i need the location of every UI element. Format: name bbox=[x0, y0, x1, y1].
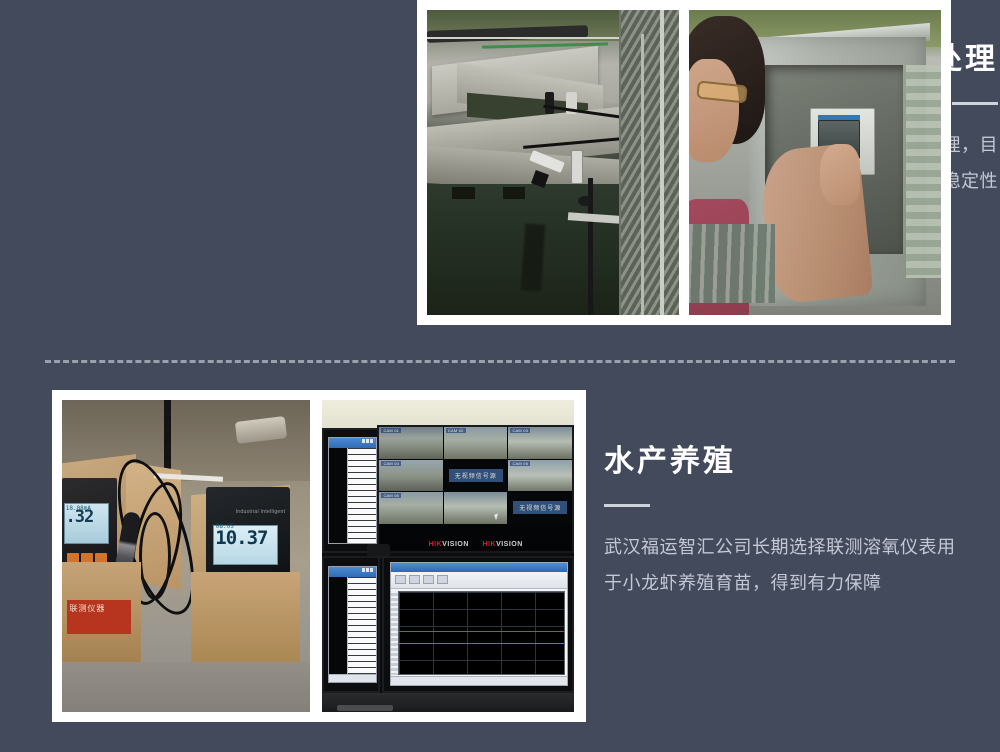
technician-cabinet-photo bbox=[689, 10, 941, 315]
technician-hand bbox=[820, 144, 860, 205]
water-reflection bbox=[520, 223, 545, 291]
app-titlebar bbox=[391, 563, 567, 572]
trend-line-blue bbox=[399, 643, 564, 644]
trend-chart-plot bbox=[398, 591, 565, 675]
cctv-cell-label: CAM 01 bbox=[381, 428, 401, 433]
wastewater-photo-frame bbox=[417, 0, 951, 325]
wall-background bbox=[322, 400, 574, 428]
plot-pane-bottom bbox=[329, 577, 348, 682]
cctv-cell: CAM 02 bbox=[444, 427, 508, 459]
window-titlebar-top bbox=[329, 438, 376, 447]
rail-vertical-2 bbox=[641, 34, 644, 315]
no-signal-text: 无视频信号源 bbox=[449, 469, 503, 482]
cctv-cell: CAM 06 bbox=[379, 492, 443, 524]
list-pane-bottom bbox=[348, 577, 376, 682]
cctv-grid: CAM 01 CAM 02 CAM 03 CAM 04 无视频信号源 bbox=[379, 427, 572, 524]
hikvision-logo: HIKVISION bbox=[429, 541, 469, 548]
dissolved-oxygen-sensor bbox=[571, 150, 583, 184]
nvr-brand-row: HIKVISION HIKVISION bbox=[422, 541, 530, 548]
list-pane-top bbox=[348, 448, 376, 543]
aquaculture-text-block: 水产养殖 武汉福运智汇公司长期选择联测溶氧仪表用于小龙虾养殖育苗，得到有力保障 bbox=[604, 444, 964, 601]
cctv-cell-label: CAM 02 bbox=[446, 428, 466, 433]
case-study-page: 污水处理 联测溶氧仪用于重庆环保十强企业污水处理，目前投入使用，监控水处理效果，… bbox=[0, 0, 1000, 752]
app-statusbar bbox=[391, 676, 567, 685]
data-window-bottom bbox=[328, 566, 377, 683]
monitor-cctv-wall: CAM 01 CAM 02 CAM 03 CAM 04 无视频信号源 bbox=[377, 425, 574, 553]
wastewater-basins-photo bbox=[427, 10, 679, 315]
glass-panel-right bbox=[906, 65, 941, 279]
cctv-cell-label: CAM 03 bbox=[510, 428, 530, 433]
chart-y-axis bbox=[391, 591, 398, 675]
window-titlebar-bottom bbox=[329, 567, 376, 577]
cctv-cell: CAM 03 bbox=[508, 427, 572, 459]
toolbar-icon[interactable] bbox=[409, 575, 420, 584]
no-signal-text: 无视频信号源 bbox=[513, 501, 567, 514]
cctv-cell: CAM 01 bbox=[379, 427, 443, 459]
wastewater-rule bbox=[952, 102, 998, 105]
cctv-cell-label: CAM 05 bbox=[510, 461, 530, 466]
guard-railing bbox=[689, 224, 775, 303]
cctv-cell: CAM 04 bbox=[379, 460, 443, 492]
cable-coil-3 bbox=[139, 512, 171, 599]
mesh-fence bbox=[619, 10, 679, 315]
cctv-cell-no-signal: 无视频信号源 bbox=[508, 492, 572, 524]
do-meter-lcd-value: 10.37 bbox=[213, 529, 277, 563]
cctv-cell-label: CAM 06 bbox=[381, 493, 401, 498]
aquaculture-rule bbox=[604, 504, 650, 507]
do-meter-brand: Industrial Intelligent bbox=[236, 509, 286, 515]
desk-surface bbox=[322, 693, 574, 712]
section-divider bbox=[45, 360, 955, 363]
meters-on-site-photo: 18.08mA .32 Industrial Intelligent 08.05… bbox=[62, 400, 310, 712]
cctv-cell-no-signal: 无视频信号源 bbox=[444, 460, 508, 492]
wall-stain-1 bbox=[452, 187, 475, 199]
window-body-bottom bbox=[329, 577, 376, 682]
aquaculture-heading: 水产养殖 bbox=[604, 444, 964, 480]
app-toolbar[interactable] bbox=[391, 572, 567, 589]
aquaculture-photo-frame: 18.08mA .32 Industrial Intelligent 08.05… bbox=[52, 390, 586, 722]
monitoring-station-photo: CAM 01 CAM 02 CAM 03 CAM 04 无视频信号源 bbox=[322, 400, 574, 712]
carton-right-front bbox=[191, 572, 300, 666]
cctv-cell-label: CAM 04 bbox=[381, 461, 401, 466]
plot-pane-top bbox=[329, 448, 348, 543]
data-window-top bbox=[328, 437, 377, 543]
aquaculture-body: 武汉福运智汇公司长期选择联测溶氧仪表用于小龙虾养殖育苗，得到有力保障 bbox=[604, 529, 964, 601]
rail-vertical-1 bbox=[660, 10, 664, 315]
wall-stain-2 bbox=[503, 187, 526, 199]
trend-application bbox=[390, 562, 568, 686]
trend-line-red bbox=[399, 631, 564, 632]
cctv-cell: CAM 05 bbox=[508, 460, 572, 492]
monitor-left-top bbox=[322, 428, 380, 553]
valve-1 bbox=[545, 92, 554, 114]
toolbar-icon[interactable] bbox=[437, 575, 448, 584]
toolbar-icon[interactable] bbox=[395, 575, 406, 584]
monitor-trend-chart bbox=[382, 556, 574, 693]
window-body-top bbox=[329, 448, 376, 543]
monitor-left-bottom bbox=[322, 556, 380, 693]
ph-meter-lcd-value: .32 bbox=[64, 509, 109, 543]
window-statusbar-bottom bbox=[329, 674, 376, 682]
carton-label-text: 联测仪器 bbox=[69, 603, 129, 631]
hikvision-logo: HIKVISION bbox=[483, 541, 523, 548]
technician-face bbox=[689, 59, 739, 163]
concrete-floor bbox=[62, 662, 310, 712]
toolbar-icon[interactable] bbox=[423, 575, 434, 584]
